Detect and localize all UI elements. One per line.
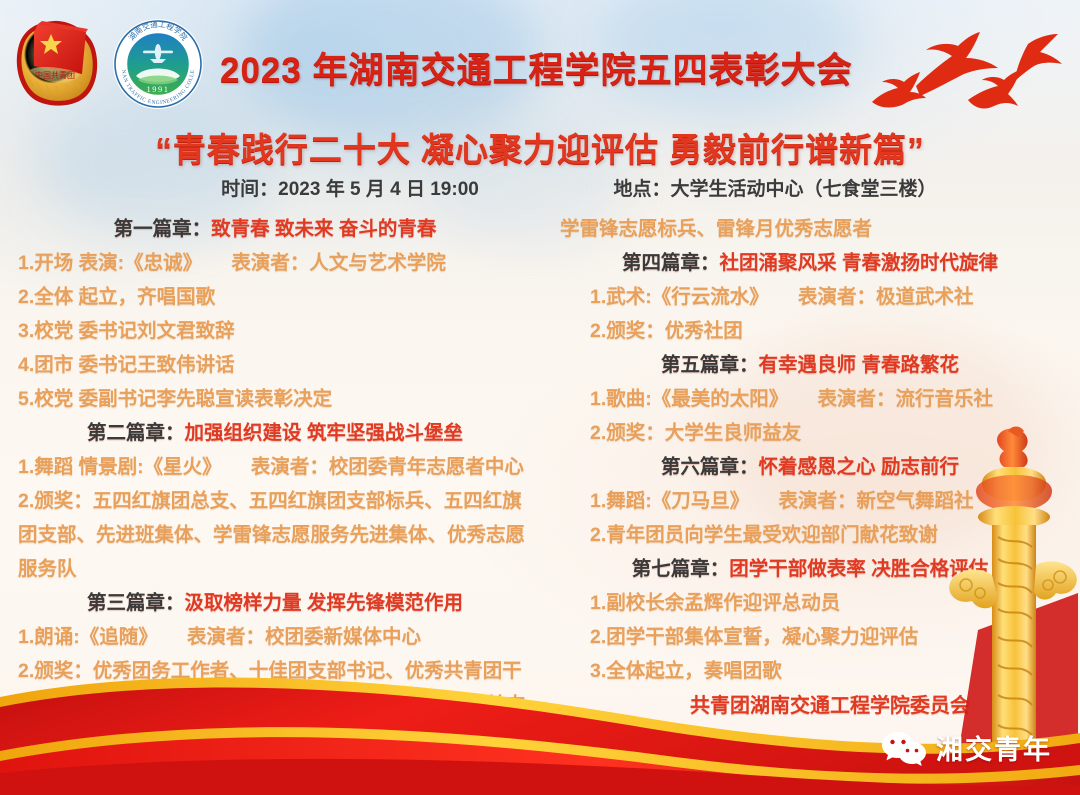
program-item: 1.歌曲:《最美的太阳》 表演者：流行音乐社	[560, 382, 1060, 416]
program-item: 1.开场 表演:《忠诚》 表演者：人文与艺术学院	[10, 246, 540, 280]
wechat-footer: 湘交青年	[882, 728, 1052, 767]
program-item: 1.朗诵:《追随》 表演者：校团委新媒体中心	[10, 620, 540, 654]
program-item: 2.全体 起立，齐唱国歌	[10, 280, 540, 314]
red-doves-icon	[860, 8, 1080, 128]
event-meta: 时间：2023 年 5 月 4 日 19:00 地点：大学生活动中心（七食堂三楼…	[0, 174, 1080, 200]
poster-root: 中国共青团 1991 湖南交通工程学院 HUNAN TRA	[0, 0, 1080, 795]
event-place: 地点：大学生活动中心（七食堂三楼）	[545, 174, 1005, 201]
program-item: 1.武术:《行云流水》 表演者：极道武术社	[560, 280, 1060, 314]
wechat-icon	[882, 730, 926, 766]
program-item: 2.颁奖：五四红旗团总支、五四红旗团支部标兵、五四红旗团支部、先进班集体、学雷锋…	[10, 484, 540, 586]
program-item: 5.校党 委副书记李先聪宣读表彰决定	[10, 382, 540, 416]
chapter-heading: 第一篇章：致青春 致未来 奋斗的青春	[10, 212, 540, 246]
page-title: 2023 年湖南交通工程学院五四表彰大会	[220, 40, 870, 94]
program-item: 2.颁奖：优秀社团	[560, 314, 1060, 348]
chapter-label: 第五篇章：	[661, 354, 759, 376]
chapter-label: 第七篇章：	[632, 558, 730, 580]
svg-text:中国共青团: 中国共青团	[35, 70, 75, 80]
event-time: 时间：2023 年 5 月 4 日 19:00	[160, 174, 540, 201]
chapter-text: 怀着感恩之心 励志前行	[759, 456, 959, 478]
chapter-label: 第二篇章：	[87, 422, 185, 444]
program-item: 4.团市 委书记王致伟讲话	[10, 348, 540, 382]
chapter-label: 第四篇章：	[622, 252, 720, 274]
program-item: 学雷锋志愿标兵、雷锋月优秀志愿者	[560, 212, 1060, 246]
chapter-label: 第三篇章：	[87, 592, 185, 614]
chapter-heading: 第三篇章：汲取榜样力量 发挥先锋模范作用	[10, 586, 540, 620]
chapter-text: 有幸遇良师 青春路繁花	[759, 354, 959, 376]
wechat-account-name: 湘交青年	[936, 728, 1052, 767]
chapter-label: 第六篇章：	[661, 456, 759, 478]
program-item: 3.校党 委书记刘文君致辞	[10, 314, 540, 348]
page-subtitle: “青春践行二十大 凝心聚力迎评估 勇毅前行谱新篇”	[0, 123, 1080, 171]
emblem-league-icon: 中国共青团	[8, 12, 104, 112]
chapter-text: 致青春 致未来 奋斗的青春	[211, 218, 436, 240]
chapter-text: 加强组织建设 筑牢坚强战斗堡垒	[185, 422, 463, 444]
chapter-text: 汲取榜样力量 发挥先锋模范作用	[185, 592, 463, 614]
chapter-heading: 第五篇章：有幸遇良师 青春路繁花	[560, 348, 1060, 382]
chapter-label: 第一篇章：	[114, 218, 212, 240]
chapter-heading: 第二篇章：加强组织建设 筑牢坚强战斗堡垒	[10, 416, 540, 450]
ribbon-wave	[0, 655, 1080, 795]
program-item: 1.舞蹈 情景剧:《星火》 表演者：校团委青年志愿者中心	[10, 450, 540, 484]
chapter-text: 社团涌聚风采 青春激扬时代旋律	[720, 252, 998, 274]
svg-text:1991: 1991	[147, 84, 170, 94]
emblem-college-icon: 1991 湖南交通工程学院 HUNAN TRAFFIC ENGINEERING …	[112, 18, 204, 110]
chapter-heading: 第四篇章：社团涌聚风采 青春激扬时代旋律	[560, 246, 1060, 280]
